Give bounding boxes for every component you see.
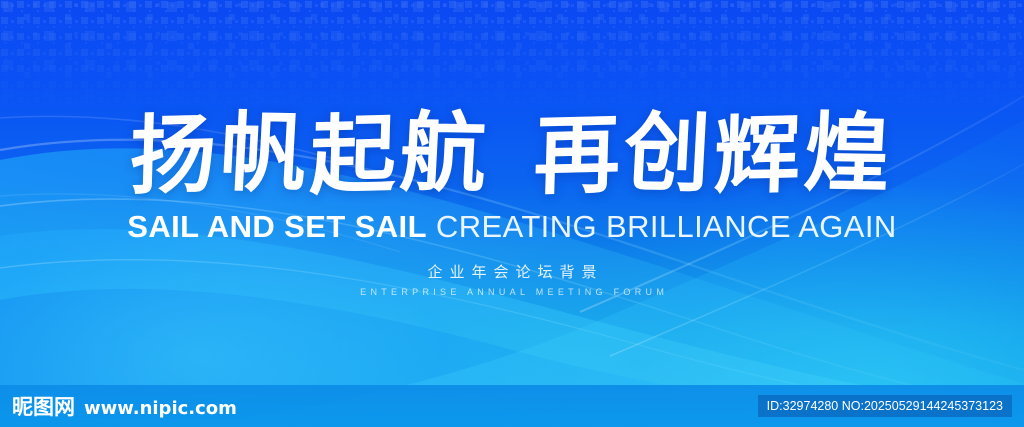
- headline-char: 创: [622, 105, 717, 203]
- nipic-logo: 昵图网: [12, 391, 75, 421]
- headline-char: 帆: [218, 105, 313, 203]
- subtitle: SAIL AND SET SAIL CREATING BRILLIANCE AG…: [0, 208, 1024, 246]
- brand-watermark: 昵图网 www.nipic.com: [0, 391, 237, 421]
- headline-char: 航: [398, 105, 493, 203]
- tagline-english: ENTERPRISE ANNUAL MEETING FORUM: [0, 286, 1024, 298]
- headline-part2: 再创辉煌: [534, 105, 894, 206]
- image-id-badge: ID:32974280 NO:20250529144245373123: [758, 395, 1012, 417]
- subtitle-bold: SAIL AND SET SAIL: [127, 209, 427, 244]
- headline-part1: 扬帆起航: [130, 105, 490, 206]
- subtitle-light: CREATING BRILLIANCE AGAIN: [436, 209, 897, 244]
- tagline-chinese: 企业年会论坛背景: [0, 263, 1024, 283]
- headline-char: 辉: [713, 107, 806, 205]
- poster-content: 扬帆起航再创辉煌 SAIL AND SET SAIL CREATING BRIL…: [0, 0, 1024, 427]
- headline-char: 扬: [129, 107, 222, 205]
- watermark-footer-bar: 昵图网 www.nipic.com ID:32974280 NO:2025052…: [0, 385, 1024, 427]
- nipic-url[interactable]: www.nipic.com: [84, 398, 237, 419]
- headline: 扬帆起航再创辉煌: [0, 108, 1024, 204]
- headline-char: 起: [309, 107, 402, 205]
- headline-char: 再: [533, 107, 626, 205]
- poster-canvas: 扬帆起航再创辉煌 SAIL AND SET SAIL CREATING BRIL…: [0, 0, 1024, 427]
- headline-char: 煌: [802, 105, 897, 203]
